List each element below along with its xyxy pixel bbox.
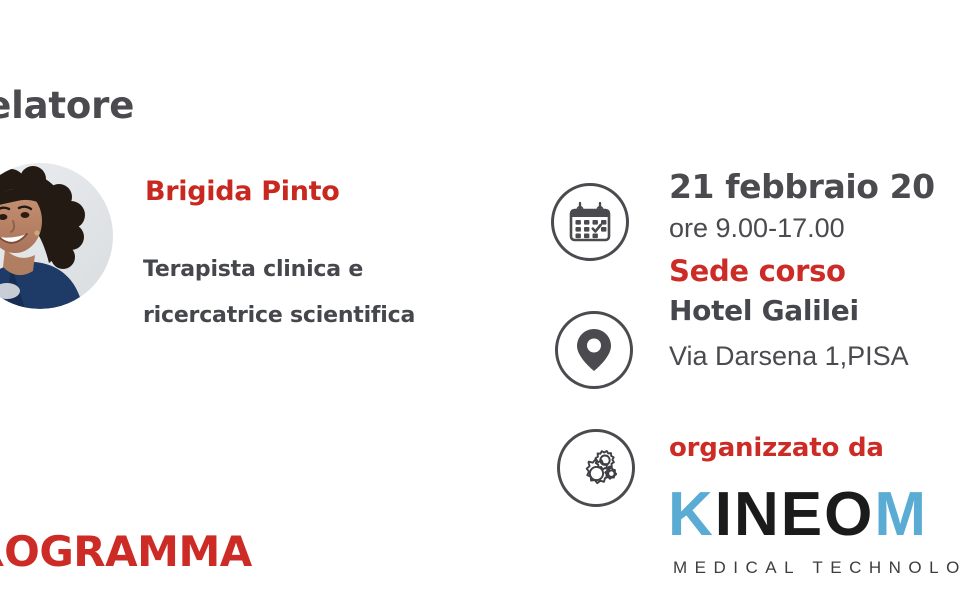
event-date: 21 febbraio 20	[669, 168, 960, 206]
venue-name: Hotel Galilei	[669, 291, 960, 331]
kineo-logo-rest: INEO	[715, 480, 875, 549]
calendar-icon	[551, 183, 629, 261]
kineo-logo-initial: K	[668, 480, 715, 549]
kineo-wordmark: KINEOM	[668, 484, 960, 546]
kineo-logo-trailing: M	[874, 480, 928, 549]
calendar-glyph	[566, 198, 614, 246]
poster-canvas: Relatore	[0, 0, 960, 614]
speaker-role: Terapista clinica e ricercatrice scienti…	[143, 247, 415, 339]
event-time: ore 9.00-17.00	[669, 208, 960, 248]
speaker-role-line-2: ricercatrice scientifica	[143, 293, 415, 339]
kineo-logo: KINEOM MEDICAL TECHNOLO	[668, 484, 960, 578]
speaker-section-heading: Relatore	[0, 84, 134, 127]
speaker-name: Brigida Pinto	[145, 176, 340, 207]
location-pin-icon	[555, 311, 633, 389]
speaker-role-line-1: Terapista clinica e	[143, 247, 415, 293]
gears-icon	[557, 429, 635, 507]
speaker-portrait	[0, 163, 113, 309]
kineo-logo-tagline: MEDICAL TECHNOLO	[673, 558, 960, 578]
gears-glyph	[570, 442, 622, 494]
venue-address: Via Darsena 1,PISA	[669, 335, 960, 377]
event-details: 21 febbraio 20 ore 9.00-17.00 Sede corso…	[669, 168, 960, 377]
location-pin-glyph	[574, 326, 614, 374]
organizer-label: organizzato da	[669, 433, 884, 463]
venue-label: Sede corso	[669, 252, 960, 290]
programme-section-heading: PROGRAMMA	[0, 527, 252, 576]
avatar	[0, 163, 113, 309]
